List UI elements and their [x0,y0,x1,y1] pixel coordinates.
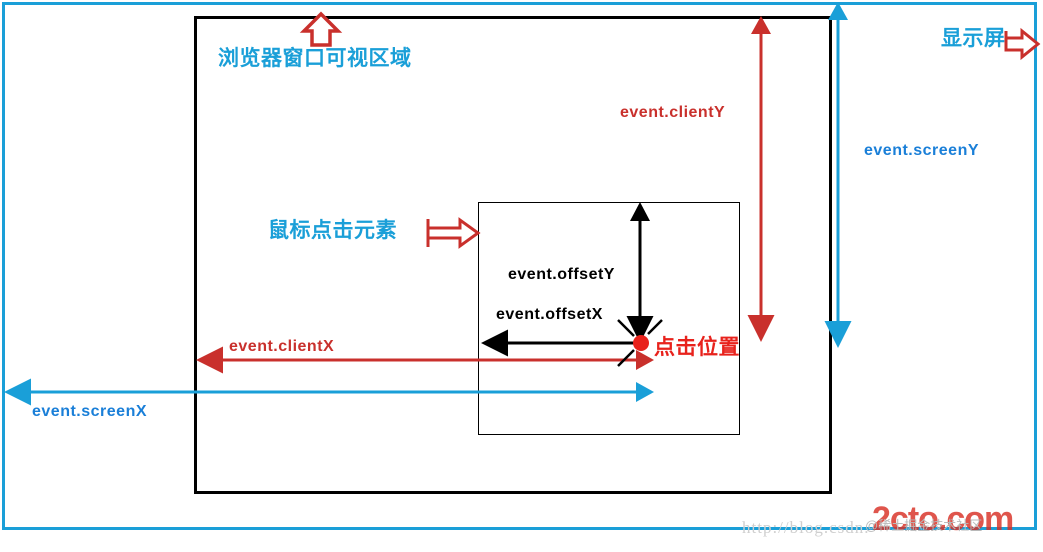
element-label: 鼠标点击元素 [268,214,397,244]
viewport-label: 浏览器窗口可视区域 [218,42,412,72]
diagram-canvas: 浏览器窗口可视区域 鼠标点击元素 显示屏 event.clientY event… [0,0,1043,552]
offsetX-label: event.offsetX [496,306,603,324]
csdn-watermark: http://blog.csdn. [742,518,870,538]
click-point-dot [633,335,649,351]
offsetY-label: event.offsetY [508,266,615,284]
click-point-label: 点击位置 [654,331,740,361]
clientY-label: event.clientY [620,104,725,122]
juejin-watermark: @稀土掘金技术社区 [865,515,982,534]
screenX-label: event.screenX [32,403,147,421]
screenY-label: event.screenY [864,142,979,160]
screen-label: 显示屏 [941,22,1006,52]
clientX-label: event.clientX [229,338,334,356]
